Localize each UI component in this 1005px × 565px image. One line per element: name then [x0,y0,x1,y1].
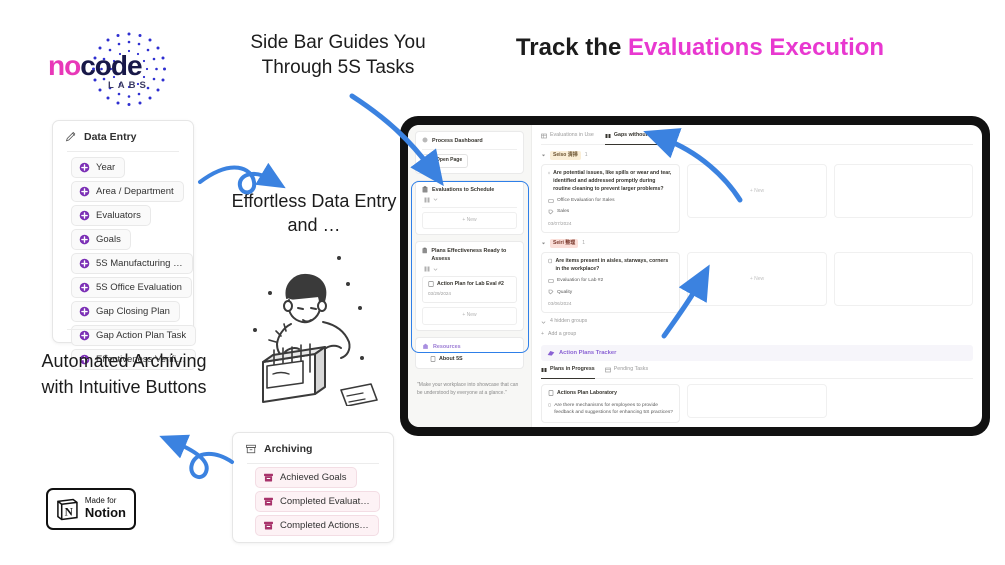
board-column [834,252,973,313]
board-column: Are items present in aisles, starways, c… [541,252,680,313]
clipboard-icon [422,247,427,254]
relation-icon [548,198,554,204]
archiving-button-label: Completed Evaluat… [280,496,370,507]
action-plans-tracker-header[interactable]: Action Plans Tracker [541,345,973,362]
annotation-effortless-data-entry: Effortless Data Entry and … [228,190,400,238]
plus-circle-icon [79,306,90,317]
archiving-panel: Archiving Achieved GoalsCompleted Evalua… [232,432,394,543]
board-icon [541,367,547,373]
tracker-icon [547,349,555,357]
nocode-labs-logo: nocode LABS [48,36,208,104]
data-entry-button-list: YearArea / DepartmentEvaluatorsGoals5S M… [53,152,193,370]
data-entry-button[interactable]: Evaluators [71,205,151,226]
board-icon [605,133,611,139]
database-view-tabs: Evaluations in Use Gaps without Plans [541,132,973,145]
card-area: Quality [557,289,572,296]
group-count: 1 [585,152,588,160]
tab-label: Gaps without Plans [614,132,663,140]
view-selector[interactable] [424,197,517,203]
new-plan-button[interactable]: + New [422,307,517,325]
card-question-row: Are potential issues, like spills or wea… [548,170,673,193]
group-count: 1 [582,240,585,248]
divider [67,329,179,330]
empty-column-placeholder[interactable] [834,164,973,218]
plus-circle-icon [79,162,90,173]
chevron-down-icon [541,241,546,246]
card-area-row: Sales [548,208,673,215]
tracker-card-question-row: Are there mechanisms for employees to pr… [548,402,673,417]
kanban-card[interactable]: Are items present in aisles, starways, c… [541,252,680,313]
data-entry-button[interactable]: Gap Closing Plan [71,301,180,322]
data-entry-button[interactable]: Area / Department [71,181,184,202]
plans-effectiveness-title: Plans Effectiveness Ready to Assess [431,247,517,263]
evaluations-to-schedule-title: Evaluations to Schedule [432,186,494,194]
archive-icon [263,472,274,483]
board-column [834,384,973,422]
annotation-track-accent: Evaluations Execution [628,34,884,61]
hidden-groups-label: 4 hidden groups [550,318,587,326]
divider [422,207,517,208]
plus-circle-icon [79,234,90,245]
open-page-label: Open Page [436,157,462,165]
open-page-button[interactable]: Open Page [422,154,468,168]
page-icon [428,281,434,287]
board-column [834,164,973,232]
new-card-button[interactable]: + New [687,252,826,306]
process-dashboard-card: Process Dashboard Open Page [415,131,524,174]
data-entry-button-label: Gap Action Plan Task [96,330,186,341]
tracker-view-tabs: Plans in Progress Pending Tasks [541,361,973,379]
empty-column-placeholder[interactable] [687,384,826,418]
archiving-button-list: Achieved GoalsCompleted Evaluat…Complete… [233,464,393,536]
logo-text-code: code [80,50,141,81]
card-question: Are items present in aisles, starways, c… [555,258,673,273]
notion-screenshot: Process Dashboard Open Page Evaluations … [408,125,982,427]
chevron-down-icon [433,267,438,272]
data-entry-button-label: Goals [96,234,121,245]
card-date: 03/06/2024 [548,300,673,307]
tracker-columns: Actions Plan Laboratory Are there mechan… [541,384,973,422]
data-entry-panel: Data Entry YearArea / DepartmentEvaluato… [52,120,194,343]
archiving-button[interactable]: Completed Actions… [255,515,379,536]
archive-icon [263,496,274,507]
logo-wordmark: nocode [48,52,208,80]
tab-plans-in-progress[interactable]: Plans in Progress [541,366,595,379]
open-page-icon [428,158,433,163]
list-icon [605,367,611,373]
empty-column-placeholder[interactable] [834,384,973,418]
card-evaluation-row: Evaluation for Lab #2 [548,277,673,284]
dashboard-icon [422,137,428,143]
kanban-card[interactable]: Are potential issues, like spills or wea… [541,164,680,232]
person-filing-documents-illustration [243,238,388,406]
group-badge: Seiso 清掃 [550,151,581,161]
arrow-data-entry [200,168,272,193]
data-entry-button-label: Evaluators [96,210,141,221]
notion-sidebar: Process Dashboard Open Page Evaluations … [408,125,532,427]
action-plan-name: Action Plan for Lab Eval #2 [437,281,504,288]
group-badge: Seiri 整理 [550,239,578,249]
card-date: 03/07/2024 [548,220,673,227]
add-group-label: Add a group [548,331,576,339]
tab-label: Evaluations in Use [550,132,594,140]
data-entry-button-label: 5S Office Evaluation [96,282,182,293]
action-plan-date: 03/29/2024 [428,291,511,298]
plans-effectiveness-header: Plans Effectiveness Ready to Assess [422,247,517,263]
tablet-device-frame: Process Dashboard Open Page Evaluations … [400,116,990,436]
board-column: + New [687,252,826,313]
group-header-seiso[interactable]: Seiso 清掃 1 [541,151,973,161]
archiving-button[interactable]: Achieved Goals [255,467,357,488]
add-group-button[interactable]: + Add a group [541,331,973,339]
tag-icon [548,289,554,295]
archive-icon [263,520,274,531]
new-card-button[interactable]: + New [687,164,826,218]
board-column: Actions Plan Laboratory Are there mechan… [541,384,680,422]
plus-circle-icon [79,210,90,221]
process-dashboard-header: Process Dashboard [422,137,517,145]
notion-main-area: Evaluations in Use Gaps without Plans Se… [532,125,982,427]
clipboard-icon [422,186,428,193]
relation-icon [548,278,554,284]
annotation-sidebar-guide: Side Bar Guides You Through 5S Tasks [238,30,438,81]
board-column: + New [687,164,826,232]
new-evaluation-button[interactable]: + New [422,212,517,230]
action-plan-item: Action Plan for Lab Eval #2 [428,281,511,288]
card-evaluation: Evaluation for Lab #2 [557,277,603,284]
archiving-title: Archiving [264,443,312,455]
plus-circle-icon [79,330,90,341]
archiving-button-label: Achieved Goals [280,472,347,483]
badge-line-2: Notion [85,506,126,520]
sidebar-quote: "Make your workplace into showcase that … [415,375,524,397]
divider [422,149,517,150]
data-entry-header: Data Entry [53,121,193,151]
card-area-row: Quality [548,289,673,296]
card-evaluation: Office Evaluation for Sales [557,197,615,204]
made-for-notion-badge: N Made for Notion [46,488,136,530]
data-entry-button-label: 5S Manufacturing … [96,258,183,269]
logo-text-labs: LABS [108,80,150,91]
table-icon [541,133,547,139]
data-entry-button[interactable]: Goals [71,229,131,250]
tab-pending-tasks[interactable]: Pending Tasks [605,366,648,374]
notion-logo-letter: N [65,507,74,519]
tracker-title: Action Plans Tracker [559,349,616,358]
data-entry-button[interactable]: 5S Office Evaluation [71,277,192,298]
plus-icon: + [541,331,544,339]
annotation-track-plain: Track the [516,34,628,61]
evaluations-to-schedule-card: Evaluations to Schedule + New [415,180,524,236]
about-5s-label: About 5S [439,355,463,363]
board-column [687,384,826,422]
plans-effectiveness-card: Plans Effectiveness Ready to Assess Acti… [415,241,524,331]
page-icon [548,402,551,408]
archiving-button[interactable]: Completed Evaluat… [255,491,380,512]
data-entry-button-label: Year [96,162,115,173]
plus-circle-icon [79,282,90,293]
archiving-header: Archiving [233,433,393,463]
resources-card: Resources About 5S [415,337,524,369]
data-entry-title: Data Entry [84,131,137,143]
tab-label: Plans in Progress [550,366,595,374]
chevron-down-icon [433,197,438,202]
tracker-card-question: Are there mechanisms for employees to pr… [554,402,673,417]
tab-gaps-without-plans[interactable]: Gaps without Plans [605,132,663,145]
page-icon [548,170,550,176]
tracker-card-title: Actions Plan Laboratory [557,390,617,398]
page-icon [548,390,554,396]
board-view-icon [424,266,430,272]
view-selector[interactable] [424,266,517,272]
chevron-down-icon [541,320,546,325]
annotation-track-evaluations: Track the Evaluations Execution [480,34,920,63]
plus-circle-icon [79,186,90,197]
card-area: Sales [557,208,569,215]
logo-text-no: no [48,50,80,81]
card-question-row: Are items present in aisles, starways, c… [548,258,673,273]
board-columns: Are potential issues, like spills or wea… [541,164,973,232]
kanban-card[interactable]: Actions Plan Laboratory Are there mechan… [541,384,680,422]
resources-title: Resources [433,343,461,351]
hidden-groups-toggle[interactable]: 4 hidden groups [541,318,973,326]
arrow-archiving [174,442,232,477]
evaluations-to-schedule-header: Evaluations to Schedule [422,186,517,194]
page-icon [430,356,436,362]
data-entry-button-label: Gap Closing Plan [96,306,170,317]
archiving-button-label: Completed Actions… [280,520,369,531]
resources-icon [422,343,429,350]
sidebar-item-about-5s[interactable]: About 5S [430,355,517,363]
plus-circle-icon [79,258,90,269]
empty-column-placeholder[interactable] [834,252,973,306]
resources-header: Resources [422,343,517,351]
notion-logo-icon: N [56,496,79,522]
tag-icon [548,209,554,215]
archive-box-icon [245,443,257,455]
board-columns: Are items present in aisles, starways, c… [541,252,973,313]
board-view-icon [424,197,430,203]
tab-label: Pending Tasks [614,366,648,374]
chevron-down-icon [541,153,546,158]
group-header-seiri[interactable]: Seiri 整理 1 [541,239,973,249]
data-entry-button[interactable]: Year [71,157,125,178]
list-item[interactable]: Action Plan for Lab Eval #2 03/29/2024 [422,276,517,303]
data-entry-button[interactable]: 5S Manufacturing … [71,253,193,274]
card-evaluation-row: Office Evaluation for Sales [548,197,673,204]
annotation-automated-archiving: Automated Archiving with Intuitive Butto… [40,348,208,400]
pencil-icon [65,131,77,143]
tab-evaluations-in-use[interactable]: Evaluations in Use [541,132,594,140]
tracker-card-title-row: Actions Plan Laboratory [548,390,673,398]
data-entry-button-label: Area / Department [96,186,174,197]
page-icon [548,258,552,264]
board-column: Are potential issues, like spills or wea… [541,164,680,232]
card-question: Are potential issues, like spills or wea… [553,170,673,193]
process-dashboard-title: Process Dashboard [432,137,483,145]
